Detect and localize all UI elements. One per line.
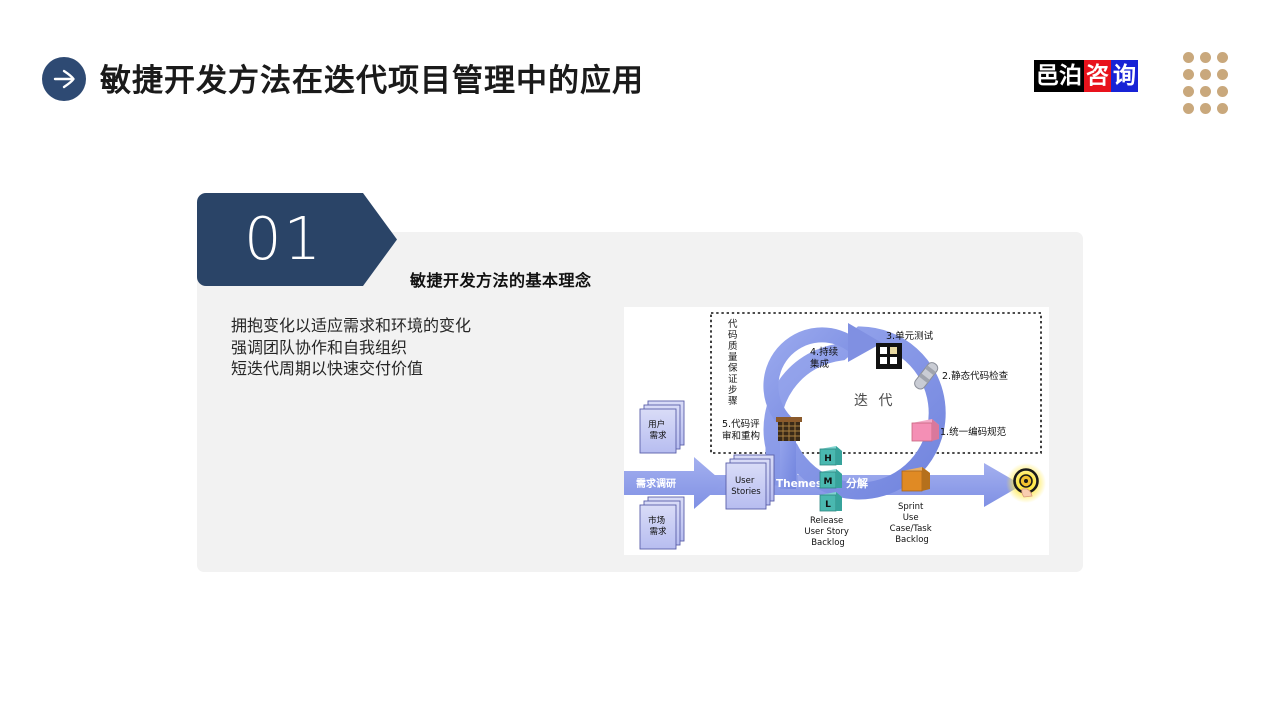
decorative-dot [1217, 86, 1228, 97]
page-header: 敏捷开发方法在迭代项目管理中的应用 邑泊 咨 询 [0, 0, 1280, 150]
quality-steps-vertical-label: 代 码 质 量 保 证 步 骤 [728, 319, 741, 407]
page-title: 敏捷开发方法在迭代项目管理中的应用 [100, 55, 644, 100]
decorative-dot [1200, 86, 1211, 97]
svg-text:L: L [825, 500, 831, 510]
basket-icon [776, 417, 802, 441]
section-number-label: 01 [244, 202, 323, 276]
market-requirement-doc-stack: 市场 需求 [640, 497, 684, 549]
decorative-dot [1200, 52, 1211, 63]
card-heading: 敏捷开发方法的基本理念 [410, 267, 592, 291]
decorative-dot [1217, 69, 1228, 80]
bullet-item-1: 拥抱变化以适应需求和环境的变化 [231, 315, 591, 337]
decompose-label: 分解 [846, 476, 868, 490]
release-backlog-caption: Release User Story Backlog [804, 516, 851, 548]
svg-text:M: M [824, 477, 833, 487]
priority-box-low: L [820, 492, 842, 511]
brand-logo: 邑泊 咨 询 [1034, 60, 1138, 92]
target-goal-icon [1006, 463, 1046, 503]
bullet-item-3: 短迭代周期以快速交付价值 [231, 358, 591, 380]
bullet-list: 拥抱变化以适应需求和环境的变化 强调团队协作和自我组织 短迭代周期以快速交付价值 [231, 315, 591, 380]
svg-text:H: H [824, 454, 832, 464]
sprint-box-icon [902, 467, 930, 491]
bullet-item-2: 强调团队协作和自我组织 [231, 337, 591, 359]
cycle-center-label: 迭 代 [854, 393, 895, 409]
brand-logo-seg-2: 咨 [1084, 60, 1111, 92]
svg-text:User Stories: User Stories [731, 476, 761, 497]
themes-label: Themes [776, 478, 822, 490]
decorative-dot [1183, 52, 1194, 63]
user-requirement-doc-stack: 用户 需求 [640, 401, 684, 453]
decorative-dot [1183, 86, 1194, 97]
decorative-dot-grid [1183, 52, 1245, 108]
cycle-step-2-label: 2.静态代码检查 [942, 370, 1009, 382]
brand-logo-seg-3: 询 [1111, 60, 1138, 92]
brand-logo-seg-1: 邑泊 [1034, 60, 1084, 92]
arrow-right-circle-icon [42, 57, 86, 101]
decorative-dot [1217, 52, 1228, 63]
cycle-step-3-label: 3.单元测试 [886, 330, 934, 342]
decorative-dot [1200, 103, 1211, 114]
agile-iteration-diagram: 代 码 质 量 保 证 步 骤 迭 代 4.持续 集成 5.代码评 审和重构 3… [624, 307, 1049, 555]
decorative-dot [1183, 69, 1194, 80]
priority-box-medium: M [820, 469, 842, 488]
user-stories-doc-stack: User Stories [726, 455, 774, 509]
puzzle-piece-icon [876, 343, 902, 369]
decorative-dot [1183, 103, 1194, 114]
requirement-survey-label: 需求调研 [636, 477, 676, 490]
decorative-dot [1200, 69, 1211, 80]
decorative-dot [1217, 103, 1228, 114]
pink-box-icon [912, 419, 939, 441]
cycle-step-5-label: 5.代码评 审和重构 [722, 419, 763, 442]
section-number-badge: 01 [197, 193, 397, 286]
priority-box-high: H [820, 446, 842, 465]
cycle-step-1-label: 1.统一编码规范 [940, 426, 1007, 438]
